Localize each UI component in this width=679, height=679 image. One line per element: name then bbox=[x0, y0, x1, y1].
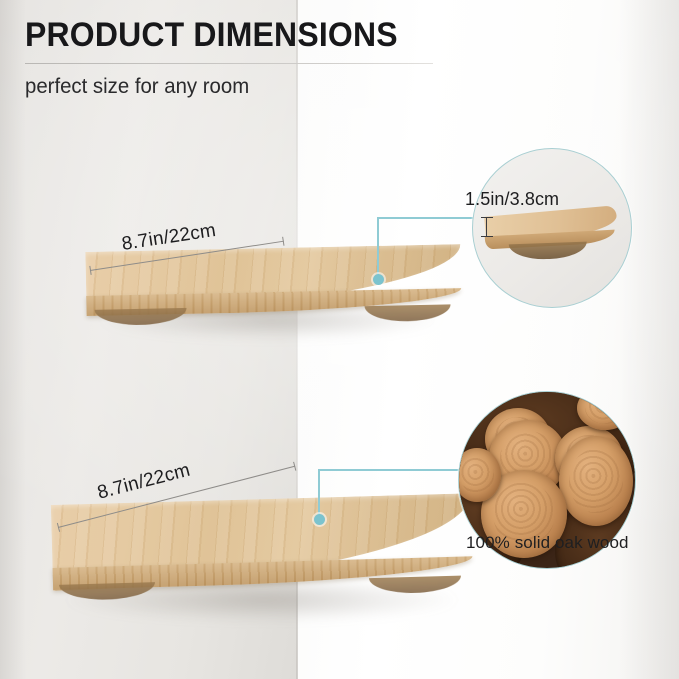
title-divider bbox=[25, 63, 433, 64]
page-subtitle: perfect size for any room bbox=[25, 75, 481, 99]
thickness-measure-cap-bottom bbox=[481, 236, 493, 237]
page-title: PRODUCT DIMENSIONS bbox=[25, 18, 467, 54]
thickness-label: 1.5in/3.8cm bbox=[465, 189, 559, 210]
thickness-measure-bar bbox=[486, 218, 487, 236]
zoomed-shelf-bracket bbox=[509, 242, 588, 261]
wall-right-shading bbox=[619, 0, 679, 679]
thickness-measure-cap-top bbox=[481, 217, 493, 218]
connector-anchor-dot bbox=[373, 274, 384, 285]
thickness-measure-icon bbox=[481, 216, 493, 238]
log-cut-end-4 bbox=[559, 436, 633, 526]
connector-vertical-segment bbox=[377, 218, 379, 280]
wall-left-shading bbox=[0, 0, 26, 679]
callout-thickness-circle bbox=[472, 148, 632, 308]
connector-vertical-segment bbox=[318, 470, 320, 520]
corner-shelf-upper bbox=[85, 244, 461, 314]
corner-shelf-lower bbox=[51, 493, 473, 591]
header-block: PRODUCT DIMENSIONS perfect size for any … bbox=[25, 18, 495, 99]
material-caption: 100% solid oak wood bbox=[466, 533, 629, 553]
connector-anchor-dot bbox=[314, 514, 325, 525]
connector-horizontal-segment bbox=[318, 469, 473, 471]
product-infographic: PRODUCT DIMENSIONS perfect size for any … bbox=[0, 0, 679, 679]
